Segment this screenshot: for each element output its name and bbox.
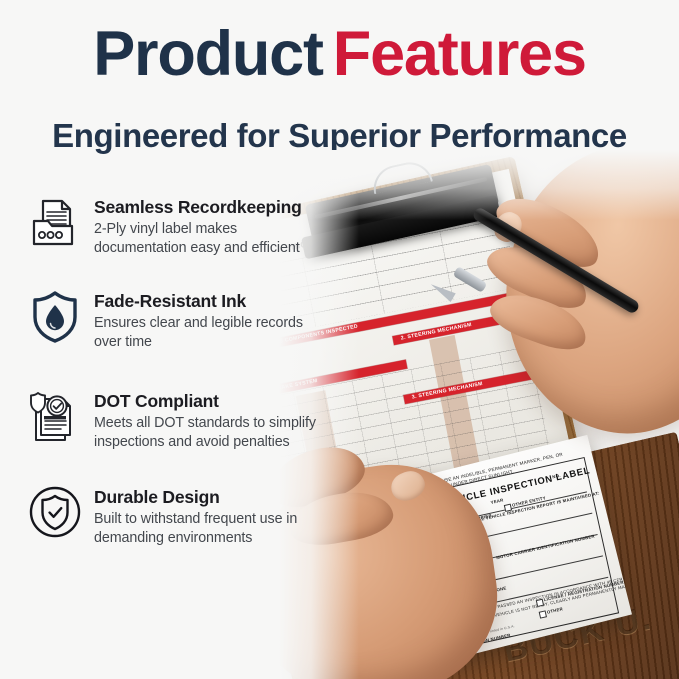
- feature-title: Durable Design: [94, 487, 326, 507]
- feature-item-seamless-recordkeeping: Seamless Recordkeeping 2-Ply vinyl label…: [22, 193, 342, 265]
- shield-check-circle-icon: [22, 483, 88, 555]
- infographic-canvas: ProductFeatures Engineered for Superior …: [0, 0, 679, 679]
- feature-text-block: Durable Design Built to withstand freque…: [88, 483, 326, 548]
- label-checkbox-other-entity[interactable]: [504, 504, 512, 512]
- feature-description: 2-Ply vinyl label makes documentation ea…: [94, 220, 326, 258]
- feature-list: Seamless Recordkeeping 2-Ply vinyl label…: [22, 193, 342, 579]
- feature-item-fade-resistant-ink: Fade-Resistant Ink Ensures clear and leg…: [22, 287, 342, 359]
- feature-description: Ensures clear and legible records over t…: [94, 314, 326, 352]
- feature-text-block: DOT Compliant Meets all DOT standards to…: [88, 387, 326, 452]
- title-word-primary: Product: [93, 19, 323, 89]
- feature-text-block: Fade-Resistant Ink Ensures clear and leg…: [88, 287, 326, 352]
- shield-ink-droplet-icon: [22, 287, 88, 359]
- page-title: ProductFeatures: [0, 22, 679, 88]
- feature-description: Built to withstand frequent use in deman…: [94, 510, 326, 548]
- document-file-box-icon: [22, 193, 88, 265]
- feature-text-block: Seamless Recordkeeping 2-Ply vinyl label…: [88, 193, 326, 258]
- title-word-accent: Features: [333, 19, 586, 89]
- feature-title: Fade-Resistant Ink: [94, 291, 326, 311]
- feature-description: Meets all DOT standards to simplify insp…: [94, 414, 326, 452]
- documents-check-shield-icon: [22, 387, 88, 459]
- feature-item-dot-compliant: DOT Compliant Meets all DOT standards to…: [22, 387, 342, 459]
- feature-title: DOT Compliant: [94, 391, 326, 411]
- feature-item-durable-design: Durable Design Built to withstand freque…: [22, 483, 342, 555]
- feature-title: Seamless Recordkeeping: [94, 197, 326, 217]
